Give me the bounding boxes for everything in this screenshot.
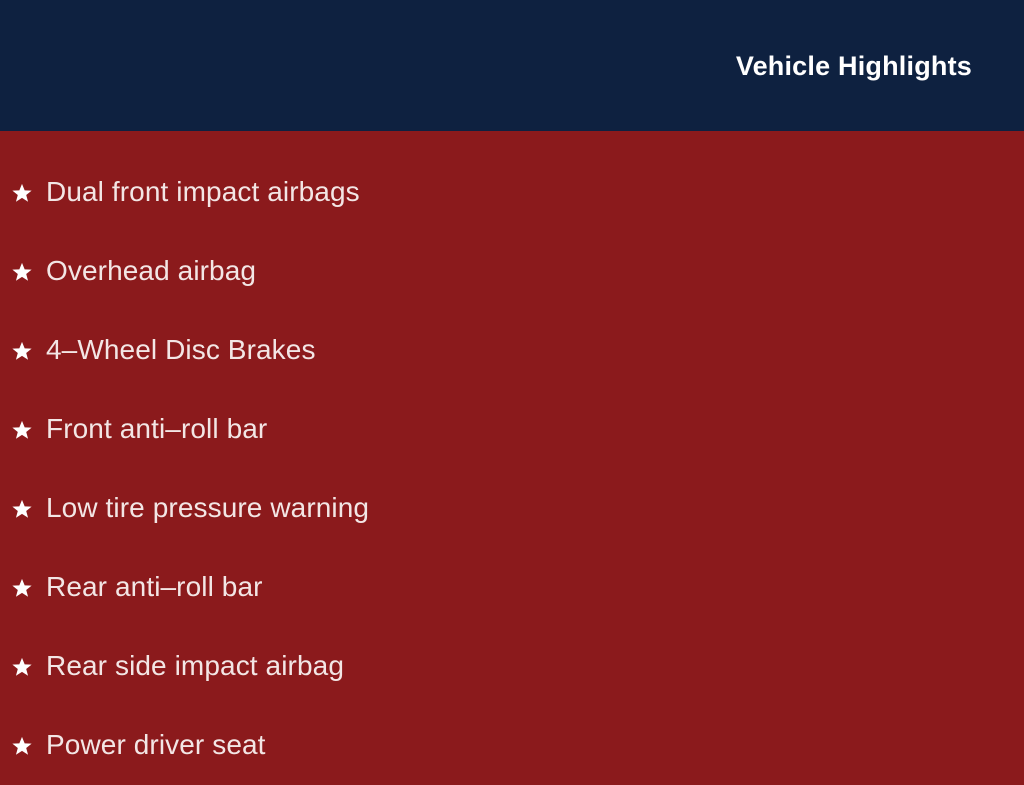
list-item: 4–Wheel Disc Brakes — [0, 311, 1024, 390]
list-item: Low tire pressure warning — [0, 469, 1024, 548]
star-icon — [9, 259, 35, 285]
star-icon — [9, 575, 35, 601]
star-icon — [9, 733, 35, 759]
star-icon — [9, 338, 35, 364]
list-item-label: 4–Wheel Disc Brakes — [46, 334, 316, 366]
list-item-label: Power driver seat — [46, 729, 266, 761]
list-item-label: Low tire pressure warning — [46, 492, 369, 524]
list-item-label: Dual front impact airbags — [46, 176, 360, 208]
slide-body: Dual front impact airbags Overhead airba… — [0, 131, 1024, 785]
list-item: Power driver seat — [0, 706, 1024, 785]
list-item: Rear anti–roll bar — [0, 548, 1024, 627]
star-icon — [9, 654, 35, 680]
list-item: Dual front impact airbags — [0, 153, 1024, 232]
page-title: Vehicle Highlights — [736, 52, 972, 82]
star-icon — [9, 417, 35, 443]
list-item: Rear side impact airbag — [0, 627, 1024, 706]
vehicle-highlights-slide: Vehicle Highlights Dual front impact air… — [0, 0, 1024, 768]
list-item-label: Rear anti–roll bar — [46, 571, 263, 603]
slide-header: Vehicle Highlights — [0, 0, 1024, 131]
list-item: Front anti–roll bar — [0, 390, 1024, 469]
list-item-label: Front anti–roll bar — [46, 413, 267, 445]
star-icon — [9, 180, 35, 206]
list-item: Overhead airbag — [0, 232, 1024, 311]
list-item-label: Overhead airbag — [46, 255, 256, 287]
star-icon — [9, 496, 35, 522]
vehicle-highlights-list: Dual front impact airbags Overhead airba… — [0, 153, 1024, 785]
list-item-label: Rear side impact airbag — [46, 650, 344, 682]
